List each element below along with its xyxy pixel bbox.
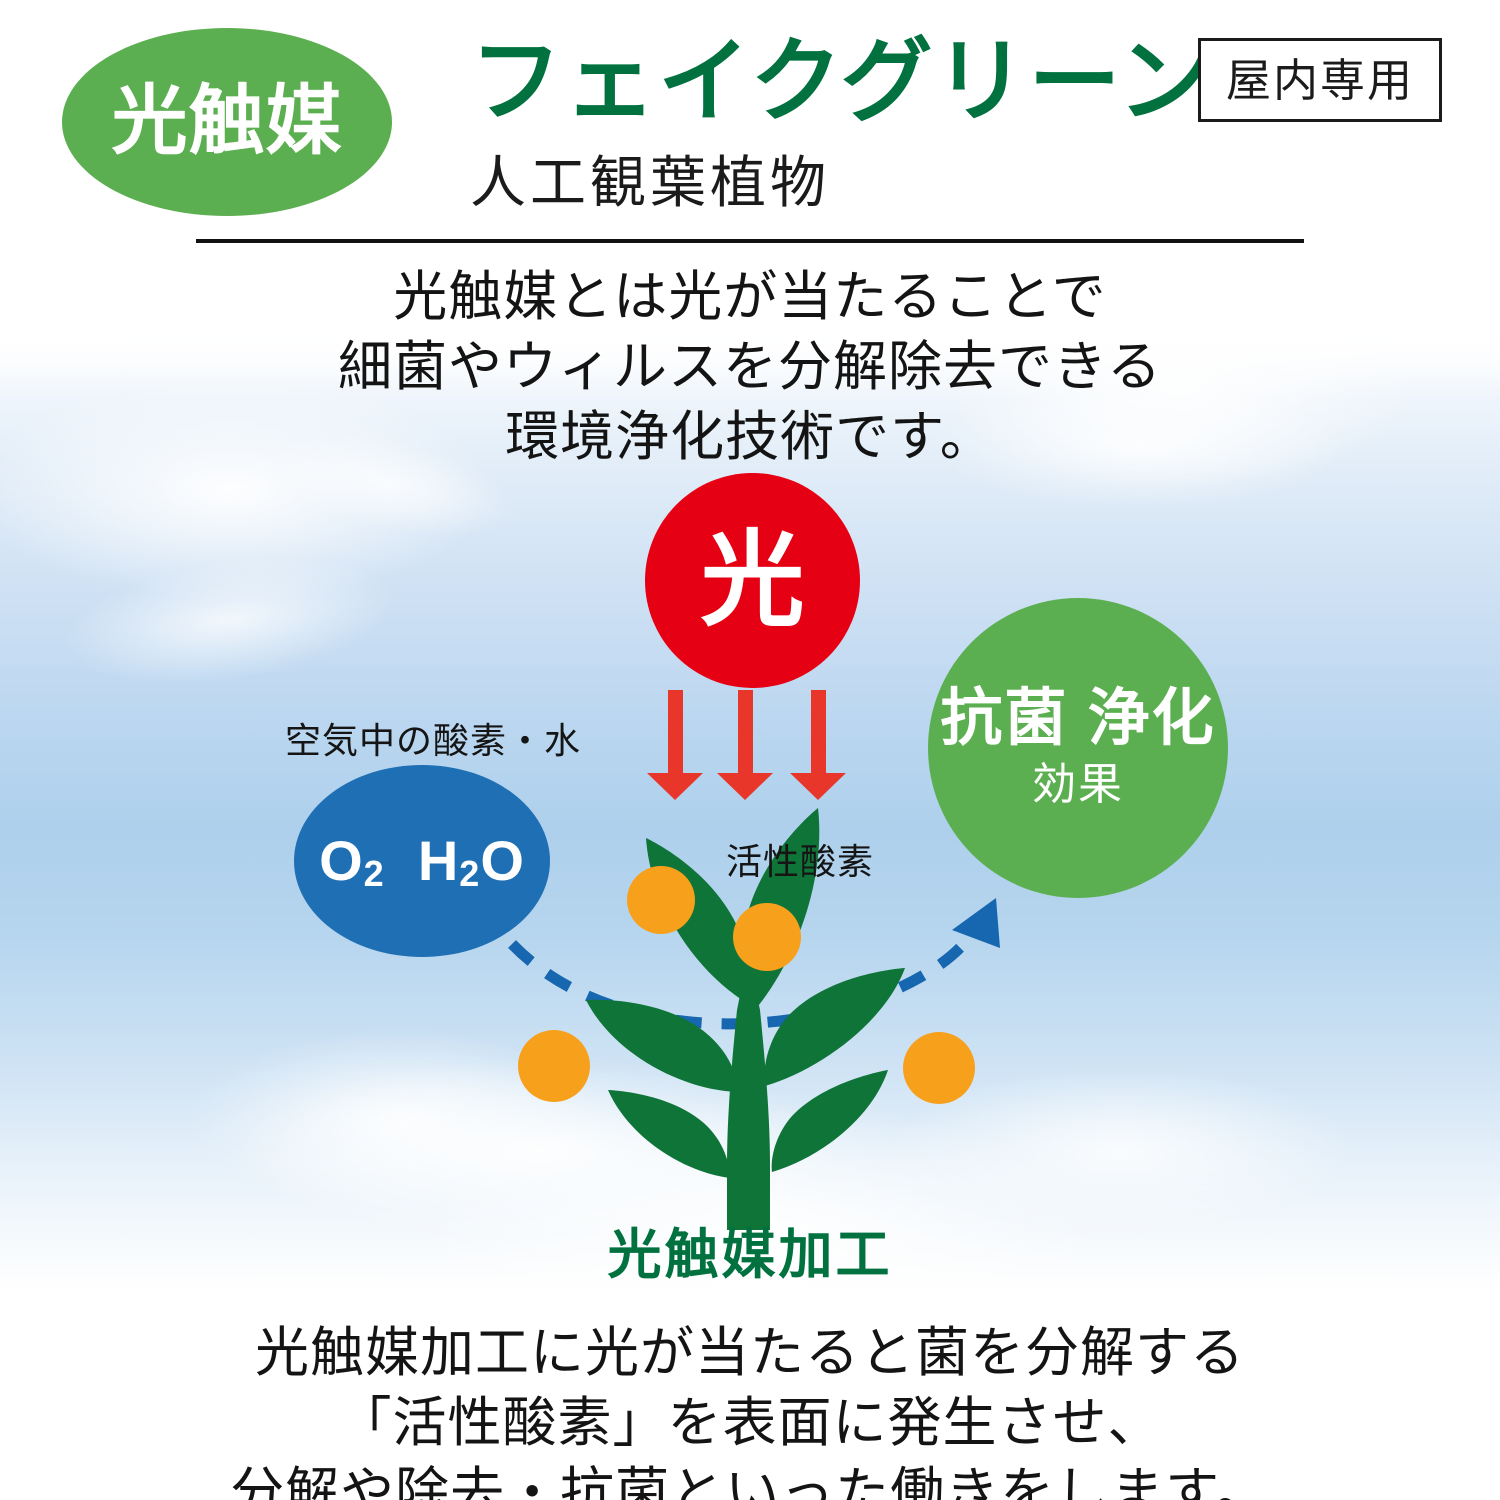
outro-line-3: 分解や除去・抗菌といった働きをします。 xyxy=(0,1458,1500,1500)
intro-text: 光触媒とは光が当たることで 細菌やウィルスを分解除去できる 環境浄化技術です。 xyxy=(0,262,1500,473)
indoor-only-badge: 屋内専用 xyxy=(1198,38,1442,122)
formula-h2o-h: H xyxy=(418,829,459,892)
poster-root: 光触媒 フェイクグリーン 人工観葉植物 屋内専用 光触媒とは光が当たることで 細… xyxy=(0,0,1500,1500)
oxygen-water-ellipse: O2 H2O xyxy=(294,765,550,957)
intro-line-3: 環境浄化技術です。 xyxy=(0,402,1500,472)
formula-h2o-subscript: 2 xyxy=(459,853,480,894)
formula-o2-symbol: O xyxy=(319,829,364,892)
indoor-only-label: 屋内専用 xyxy=(1226,58,1414,103)
reactive-oxygen-dot xyxy=(903,1032,975,1104)
reactive-oxygen-dot xyxy=(518,1030,590,1102)
photocatalyst-badge-label: 光触媒 xyxy=(112,84,343,160)
header-divider xyxy=(196,239,1304,243)
effect-sub-label: 効果 xyxy=(1032,761,1124,809)
photocatalyst-process-label: 光触媒加工 xyxy=(0,1228,1500,1282)
air-oxygen-water-label: 空気中の酸素・水 xyxy=(268,712,598,764)
chemical-formula: O2 H2O xyxy=(319,833,525,889)
outro-line-2: 「活性酸素」を表面に発生させ、 xyxy=(0,1388,1500,1458)
intro-line-1: 光触媒とは光が当たることで xyxy=(0,262,1500,332)
outro-line-1: 光触媒加工に光が当たると菌を分解する xyxy=(0,1318,1500,1388)
outro-text: 光触媒加工に光が当たると菌を分解する 「活性酸素」を表面に発生させ、 分解や除去… xyxy=(0,1318,1500,1500)
reactive-oxygen-dot xyxy=(733,903,801,971)
light-source-label: 光 xyxy=(700,529,804,633)
intro-line-2: 細菌やウィルスを分解除去できる xyxy=(0,332,1500,402)
photocatalyst-badge: 光触媒 xyxy=(62,28,392,216)
formula-h2o-o: O xyxy=(480,829,525,892)
page-title: フェイクグリーン xyxy=(470,34,1212,131)
light-source-circle: 光 xyxy=(645,473,860,688)
effect-main-label: 抗菌 浄化 xyxy=(940,686,1215,751)
reactive-oxygen-dot xyxy=(627,866,695,934)
page-subtitle: 人工観葉植物 xyxy=(470,152,830,214)
formula-o2-subscript: 2 xyxy=(364,853,385,894)
